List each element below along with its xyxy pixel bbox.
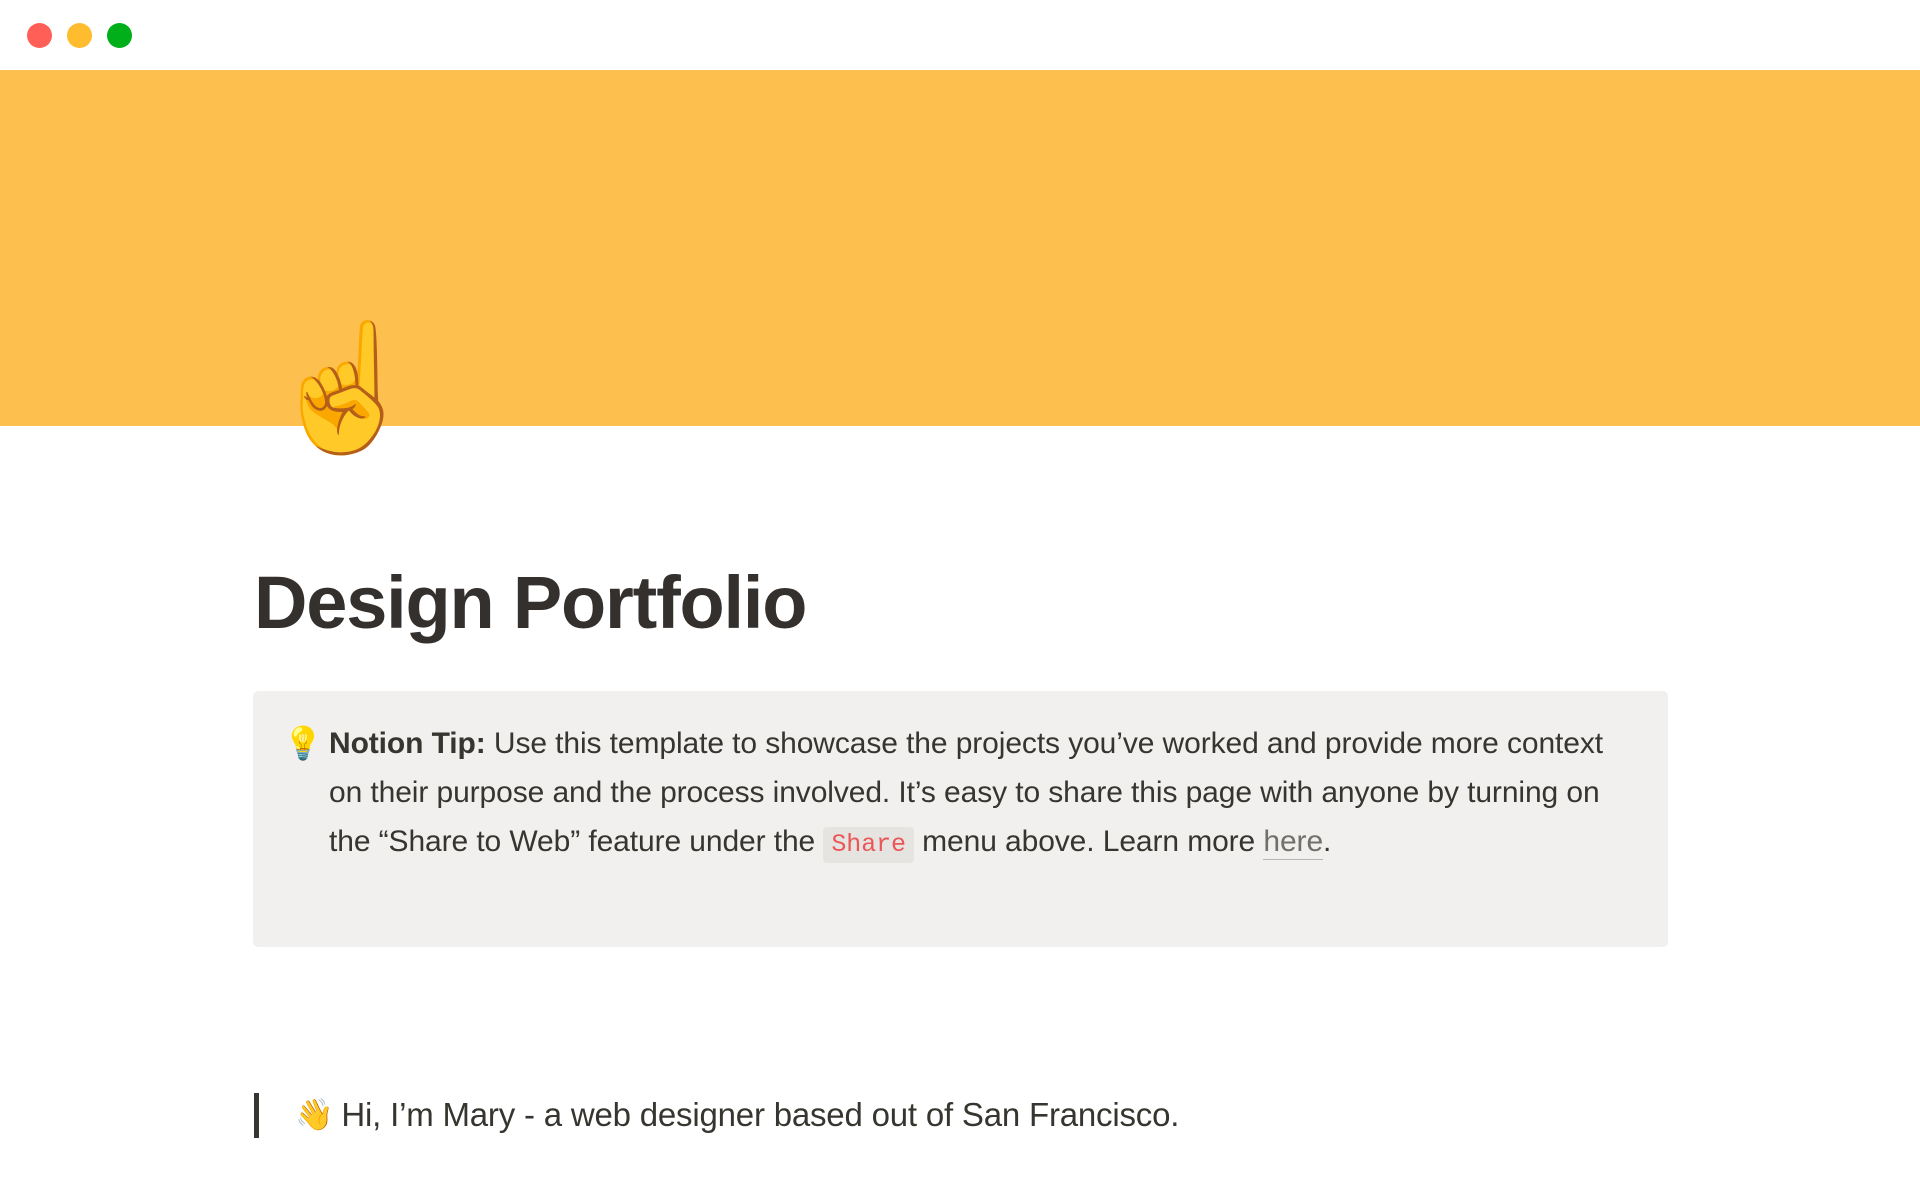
window-titlebar (0, 0, 1920, 70)
callout-text: Notion Tip: Use this template to showcas… (329, 719, 1638, 869)
callout-body-part-3: . (1323, 825, 1331, 858)
page-title[interactable]: Design Portfolio (254, 564, 806, 642)
callout-block[interactable]: 💡 Notion Tip: Use this template to showc… (253, 691, 1668, 947)
close-window-button[interactable] (27, 23, 52, 48)
minimize-window-button[interactable] (67, 23, 92, 48)
quote-block[interactable]: 👋Hi, I’m Mary - a web designer based out… (254, 1093, 1179, 1138)
lightbulb-icon: 💡 (283, 719, 329, 768)
quote-text: Hi, I’m Mary - a web designer based out … (341, 1093, 1179, 1138)
traffic-light-controls (27, 23, 132, 48)
waving-hand-icon: 👋 (295, 1094, 333, 1136)
share-code-chip: Share (823, 827, 914, 863)
app-window: ☝️ Design Portfolio 💡 Notion Tip: Use th… (0, 0, 1920, 1200)
quote-text-container: 👋Hi, I’m Mary - a web designer based out… (259, 1093, 1179, 1138)
index-pointing-up-icon[interactable]: ☝️ (267, 326, 421, 450)
callout-bold-label: Notion Tip: (329, 727, 486, 760)
maximize-window-button[interactable] (107, 23, 132, 48)
callout-body-part-2: menu above. Learn more (914, 825, 1263, 858)
learn-more-here-link[interactable]: here (1263, 825, 1323, 860)
